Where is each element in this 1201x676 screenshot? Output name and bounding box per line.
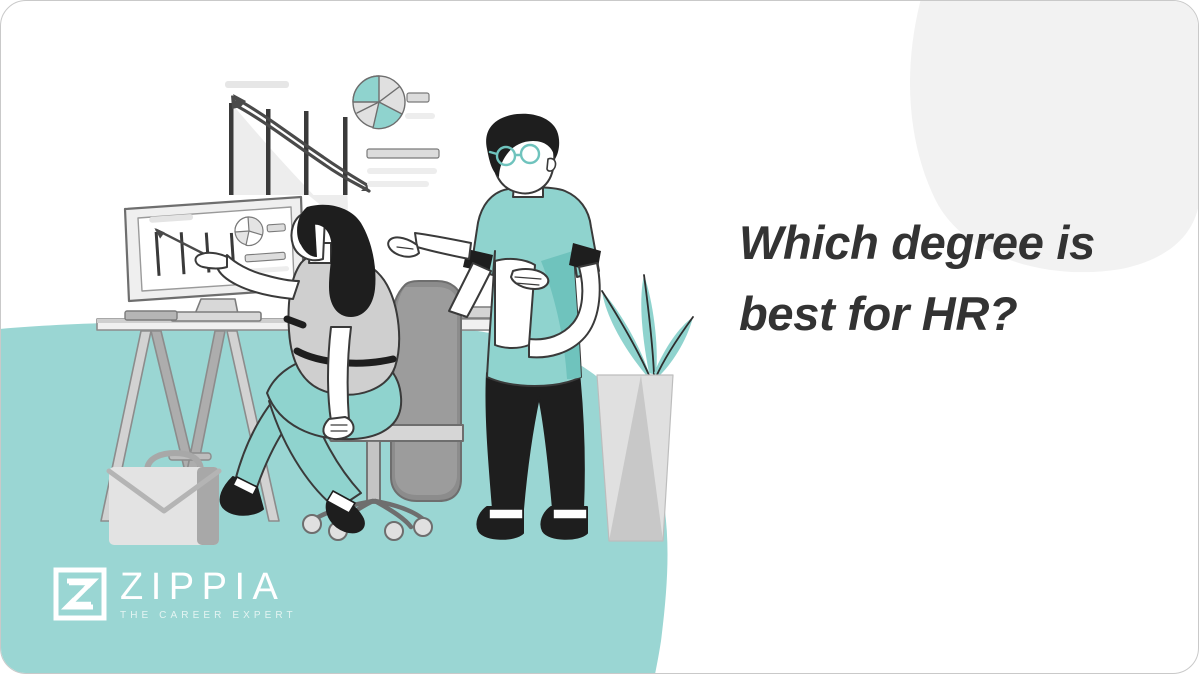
monitor-stand-base	[171, 312, 261, 321]
man-trousers	[486, 373, 583, 509]
woman-resting-arm	[328, 327, 351, 421]
potted-plant	[597, 275, 693, 541]
page-title: Which degree is best for HR?	[739, 207, 1169, 350]
chair-cylinder	[367, 441, 380, 503]
briefcase	[109, 453, 219, 545]
wall-title-placeholder	[225, 81, 289, 88]
zippia-logo[interactable]: ZIPPIA THE CAREER EXPERT	[53, 567, 297, 621]
wall-chart-pie	[353, 76, 405, 129]
keyboard	[125, 311, 177, 320]
wall-bar-1	[229, 103, 234, 195]
woman-hand-pointing	[196, 253, 227, 269]
logo-wordmark: ZIPPIA	[120, 568, 297, 606]
logo-tagline: THE CAREER EXPERT	[120, 611, 297, 621]
man-left-arm	[415, 233, 471, 259]
woman-hand-resting	[323, 417, 353, 439]
zippia-z-logo-icon	[53, 567, 107, 621]
promo-card: Which degree is best for HR? ZIPPIA THE …	[0, 0, 1199, 674]
wall-bar-4	[343, 117, 348, 195]
man-hand-pointing	[388, 237, 419, 256]
